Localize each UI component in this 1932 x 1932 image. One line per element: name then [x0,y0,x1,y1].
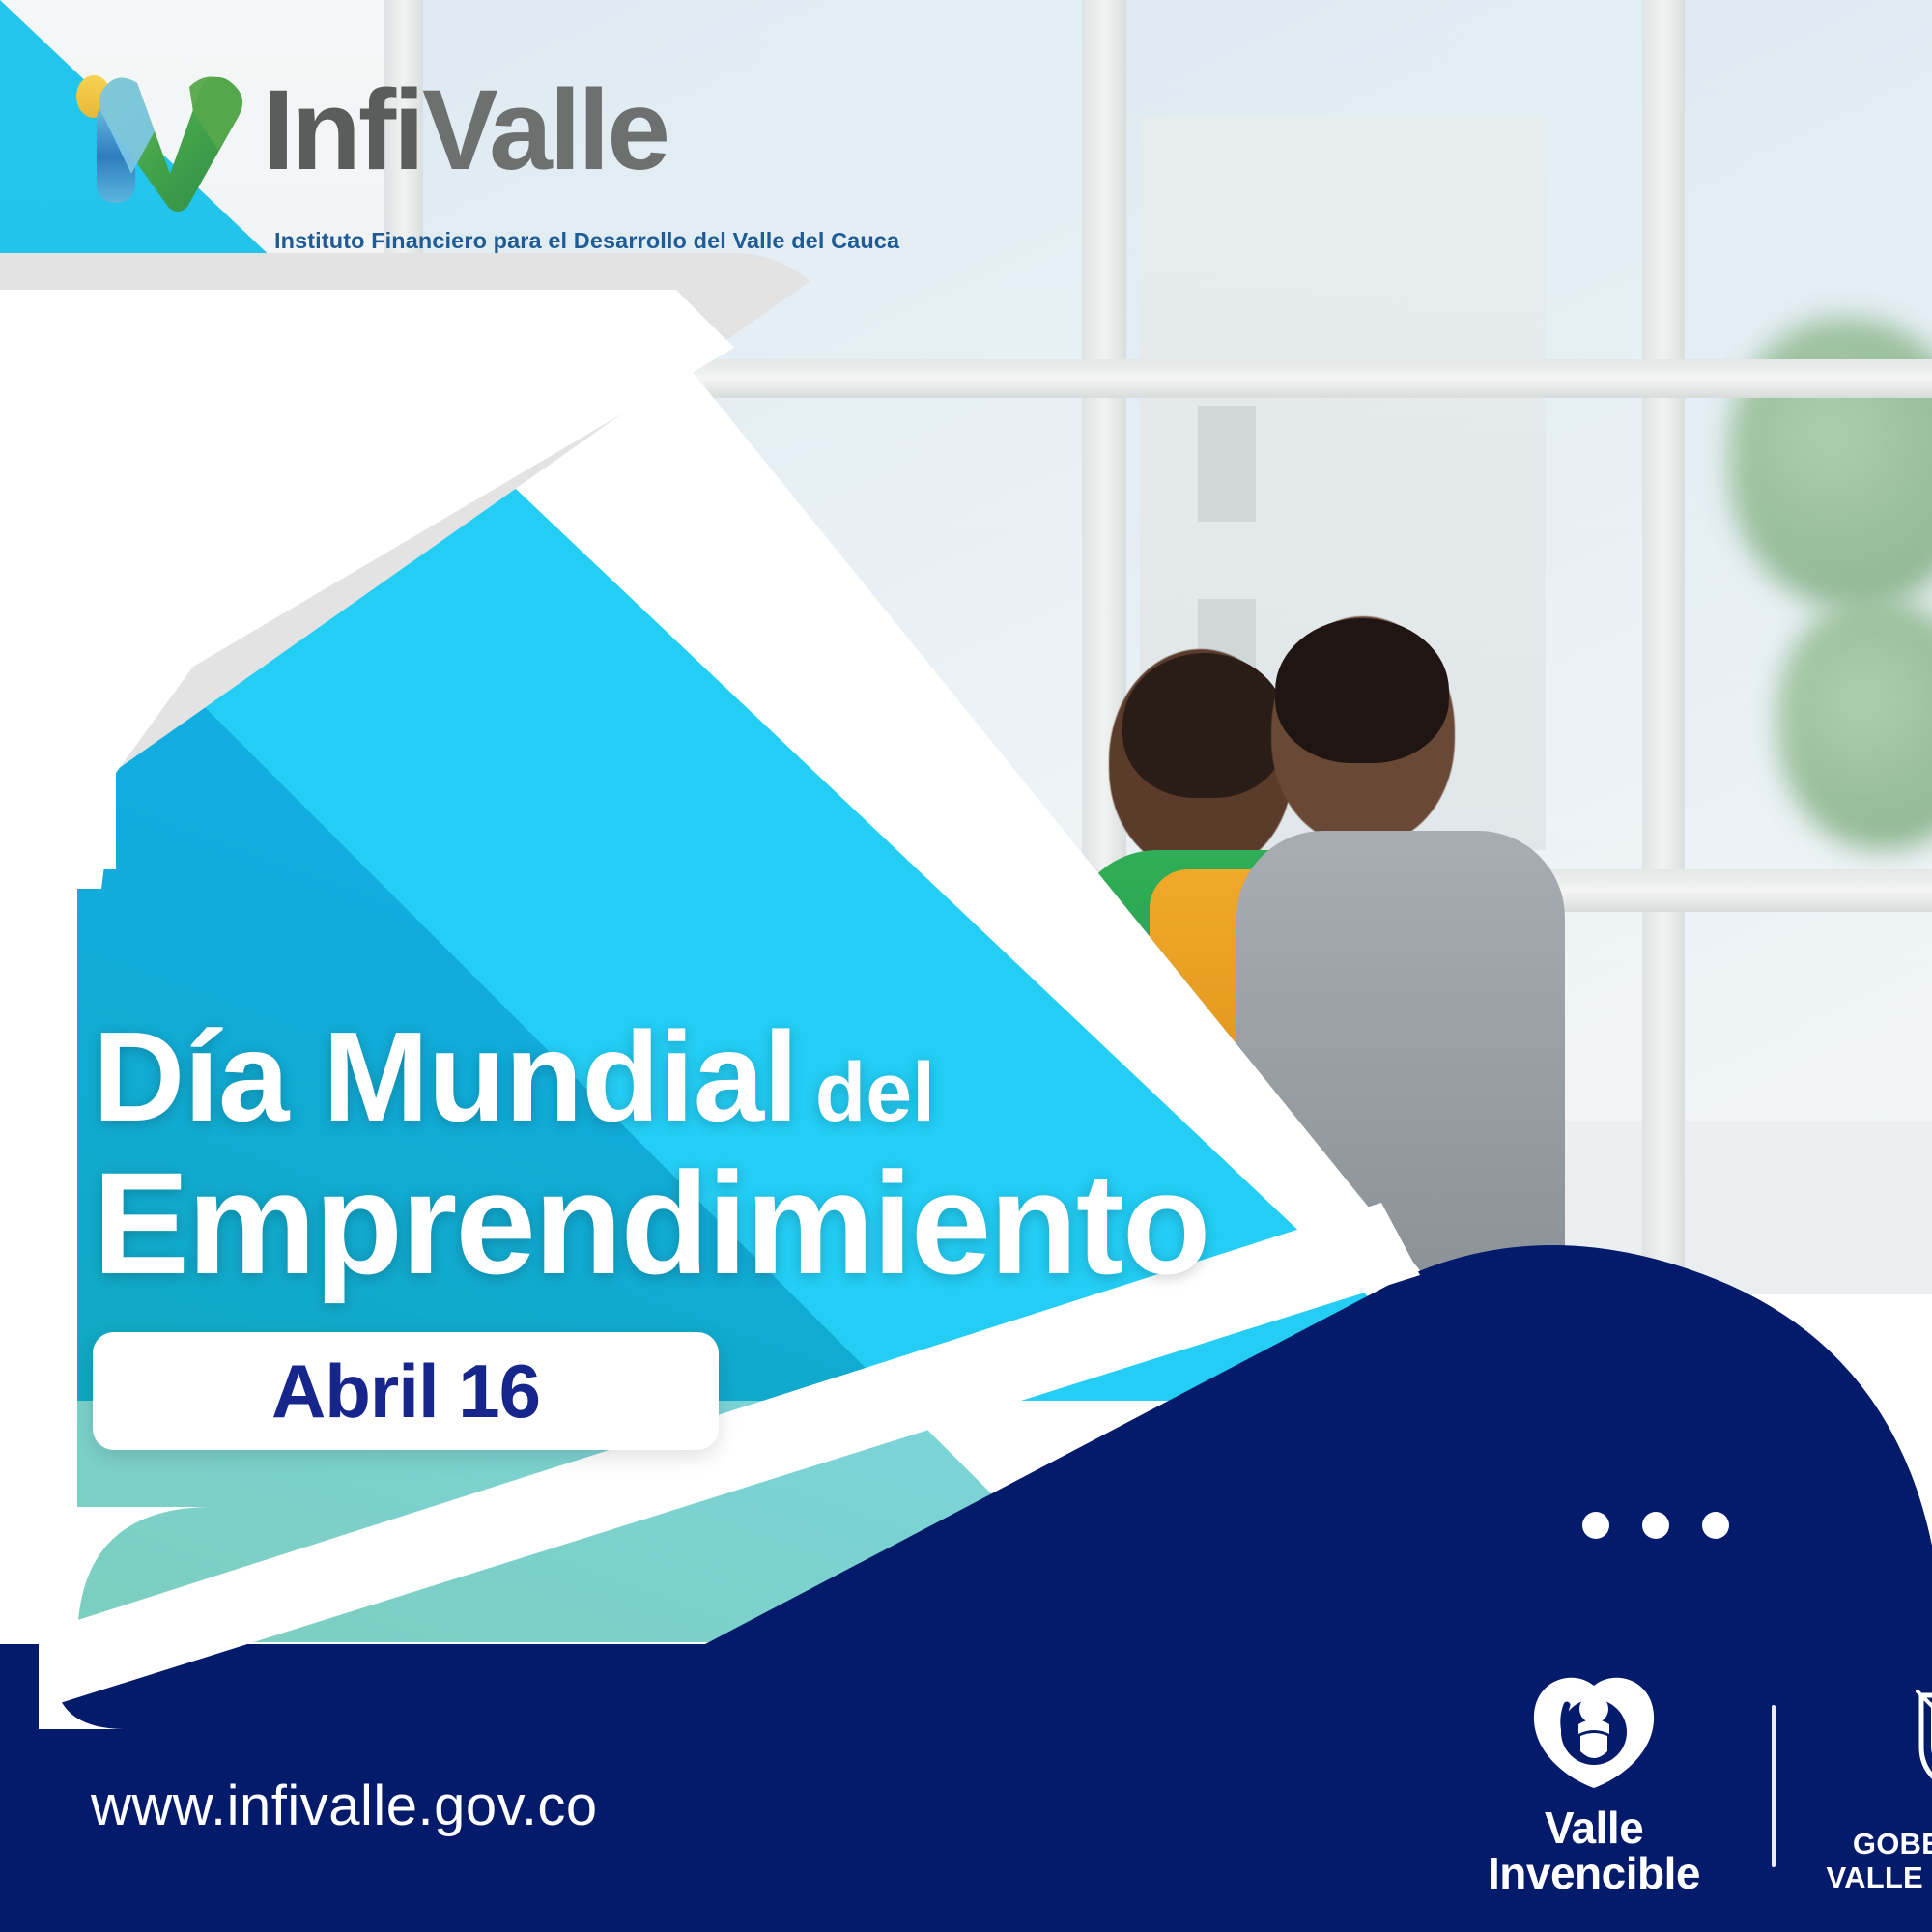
gobernacion-line-1: GOBERNACIÓN [1827,1827,1932,1861]
person-hair [1275,618,1449,763]
valle-invencible-logo[interactable]: Valle Invencible [1449,1676,1739,1896]
footer-logo-group: Valle Invencible GOBERNACIÓN [1449,1676,1932,1896]
headline-main-text: Día Mundial [93,1006,798,1148]
dot [1702,1512,1729,1539]
logo-tagline: Instituto Financiero para el Desarrollo … [274,228,899,254]
dot [153,362,185,395]
window-mullion [1082,0,1126,1932]
logo-word-valle: Valle [422,67,668,194]
headline-line-1: Día Mundialdel [93,1014,1542,1139]
dot [85,362,118,395]
poster-canvas: InfiValle Instituto Financiero para el D… [0,0,1932,1932]
brand-logo[interactable]: InfiValle Instituto Financiero para el D… [73,56,692,259]
gobernacion-logo[interactable]: GOBERNACIÓN VALLE DEL CAUCA [1808,1678,1932,1895]
date-badge[interactable]: Abril 16 [93,1332,719,1450]
hero-headline: Día Mundialdel Emprendimiento [93,1014,1542,1294]
gobernacion-line-2: VALLE DEL CAUCA [1827,1861,1932,1894]
window-building [1198,406,1256,522]
date-badge-label: Abril 16 [271,1348,540,1435]
dot [1582,1512,1609,1539]
three-dots-icon [85,362,253,395]
three-dots-icon [1582,1512,1729,1539]
valle-invencible-text: Valle Invencible [1488,1805,1700,1896]
valle-invencible-heart-person-icon [1530,1676,1658,1790]
headline-line-2: Emprendimiento [93,1152,1542,1294]
vertical-divider-icon [1772,1705,1776,1867]
person-hair [1122,653,1287,798]
dot [220,362,253,395]
website-url[interactable]: www.infivalle.gov.co [91,1774,598,1838]
valle-line-2: Invencible [1488,1851,1700,1896]
dot [1642,1512,1669,1539]
gobernacion-shield-crest-icon [1894,1678,1932,1815]
valle-line-1: Valle [1488,1805,1700,1851]
logo-word-infi: Infi [263,67,422,194]
logo-wordmark: InfiValle [263,73,668,187]
headline-del-text: del [815,1046,935,1139]
gobernacion-text: GOBERNACIÓN VALLE DEL CAUCA [1827,1827,1932,1895]
infivalle-wave-mark-icon [73,62,276,216]
window-mullion [1642,0,1685,1932]
